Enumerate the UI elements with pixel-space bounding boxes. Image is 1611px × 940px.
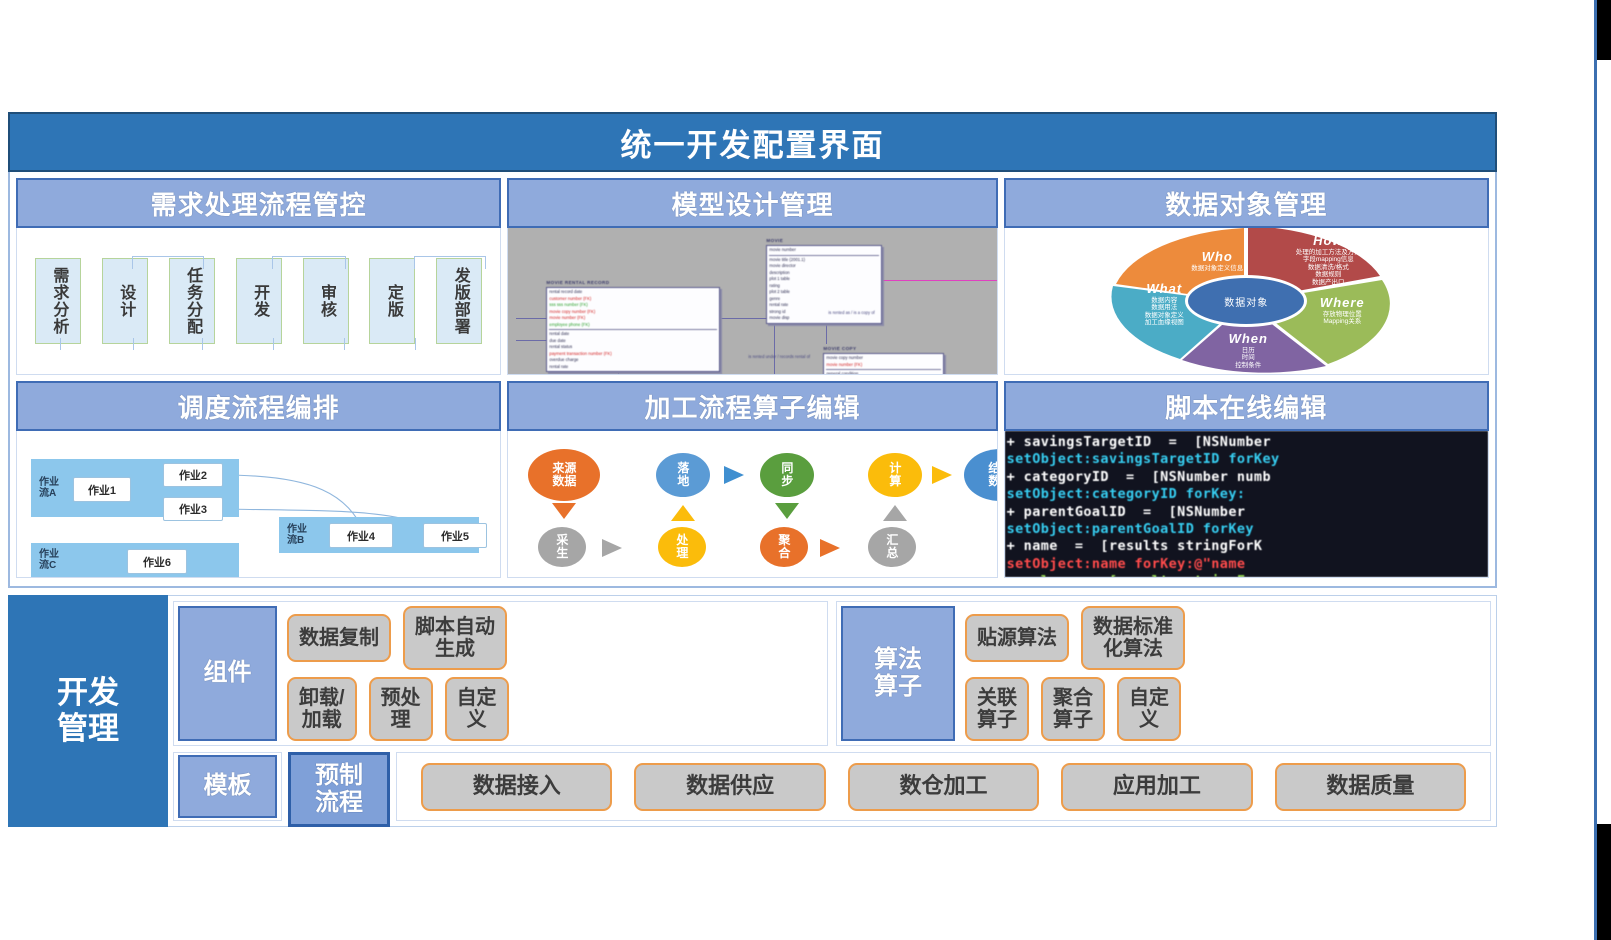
group-tag-template[interactable]: 模板 xyxy=(178,755,277,818)
chip-data-ingest[interactable]: 数据接入 xyxy=(421,763,612,811)
er-note-2: is rented under / records rental of xyxy=(748,354,824,359)
er-table-movie-keys: movie number xyxy=(769,247,879,256)
chip-join-operator[interactable]: 关联 算子 xyxy=(965,677,1029,741)
chip-aggregate-operator[interactable]: 聚合 算子 xyxy=(1041,677,1105,741)
job-5[interactable]: 作业5 xyxy=(423,523,487,548)
panel-title-script: 脚本在线编辑 xyxy=(1165,388,1327,425)
requirement-flow-diagram: 需求分析 设计 任务分配 开发 审核 定版 发版部署 xyxy=(17,228,500,374)
flow-step-4-label: 开发 xyxy=(250,284,267,318)
group-body-components: 数据复制 脚本自动 生成 卸载/ 加载 预处 理 自定 义 xyxy=(277,606,823,741)
panel-schedule-flow[interactable]: 调度流程编排 作业 流A 作业1 xyxy=(16,381,501,578)
job-2[interactable]: 作业2 xyxy=(163,463,223,487)
operator-source-data[interactable]: 来源 数据 xyxy=(528,449,600,501)
group-body-algorithms: 贴源算法 数据标准 化算法 关联 算子 聚合 算子 自定 义 xyxy=(955,606,1486,741)
flow-step-6[interactable]: 定版 xyxy=(369,258,415,344)
panels-frame: 需求处理流程管控 需求分析 设计 任务分配 开发 审核 定版 发版部署 xyxy=(8,172,1497,588)
flow-step-3[interactable]: 任务分配 xyxy=(169,258,215,344)
flow-step-5-label: 审核 xyxy=(317,284,334,318)
flow-connector-top-1 xyxy=(132,256,204,269)
er-table-rental: rental record date customer number (FK) … xyxy=(546,287,720,372)
er-table-copy-keys: movie copy number movie number (FK) xyxy=(826,355,941,370)
dev-template-row: 模板 预制 流程 数据接入 数据供应 数仓加工 应用加工 数据质量 xyxy=(173,752,1491,821)
arrow-down-2-icon xyxy=(775,503,799,519)
right-vertical-rule xyxy=(1594,0,1597,940)
panel-title-requirement: 需求处理流程管控 xyxy=(151,185,367,222)
page-title: 统一开发配置界面 xyxy=(621,120,885,165)
chip-source-algorithm[interactable]: 贴源算法 xyxy=(965,614,1069,662)
panel-title-data-object: 数据对象管理 xyxy=(1165,185,1327,222)
dev-management-label: 开发 管理 xyxy=(57,675,119,746)
chip-data-replication[interactable]: 数据复制 xyxy=(287,614,391,662)
operator-process[interactable]: 处 理 xyxy=(658,527,706,567)
flow-connector-top-3 xyxy=(414,256,486,269)
panel-data-object[interactable]: 数据对象管理 Who 数据对象定义信息 xyxy=(1004,178,1489,375)
flow-connector-top-2 xyxy=(272,256,346,269)
pie-center-text: 数据对象 xyxy=(1224,294,1268,309)
chip-standardization-algorithm[interactable]: 数据标准 化算法 xyxy=(1081,606,1185,670)
chip-script-autogen[interactable]: 脚本自动 生成 xyxy=(403,606,507,670)
job-4[interactable]: 作业4 xyxy=(329,523,393,548)
er-field: general condition xyxy=(826,371,941,375)
unified-dev-config-poster: 统一开发配置界面 需求处理流程管控 需求分析 设计 任务分配 开发 审核 定版 xyxy=(8,112,1497,822)
panel-header-model: 模型设计管理 xyxy=(507,178,997,228)
algorithms-row-1: 贴源算法 数据标准 化算法 xyxy=(965,606,1486,670)
er-field: movie disp xyxy=(769,315,879,322)
dev-management-section: 开发 管理 组件 数据复制 脚本自动 生成 卸载/ 加载 预处 理 自定 义 xyxy=(8,595,1497,827)
pie-center-label: 数据对象 xyxy=(1185,275,1307,327)
code-line-7: + name = [results stringForK xyxy=(1007,538,1263,554)
panel-body-schedule: 作业 流A 作业1 作业2 作业3 作业 流B 作业4 作业5 作业 流C xyxy=(16,431,501,578)
panel-script-editor[interactable]: 脚本在线编辑 + savingsTargetID = [NSNumber set… xyxy=(1004,381,1489,578)
panel-model-design[interactable]: 模型设计管理 MOVIE RENTAL RECORD xyxy=(507,178,997,375)
er-field: rental rate xyxy=(549,364,717,371)
panel-body-data-object: Who 数据对象定义信息 How 处理的加工方法及方法 字段mapping信息 xyxy=(1004,228,1489,375)
job-1[interactable]: 作业1 xyxy=(73,477,131,502)
right-edge-bottom-bar xyxy=(1597,824,1611,940)
operator-landing[interactable]: 落 地 xyxy=(656,453,710,497)
er-field: movie number (FK) xyxy=(826,362,941,369)
code-line-1: + savingsTargetID = [NSNumber xyxy=(1007,434,1271,450)
er-table-copy-fields: general condition movie format xyxy=(826,371,941,375)
chip-unload-load[interactable]: 卸载/ 加载 xyxy=(287,677,357,741)
flow-connector-bottom-3 xyxy=(344,338,416,350)
code-line-4: setObject:categoryID forKey: xyxy=(1007,486,1246,502)
arrow-right-2-icon xyxy=(932,466,952,484)
panel-title-schedule: 调度流程编排 xyxy=(178,388,340,425)
chip-data-quality[interactable]: 数据质量 xyxy=(1275,763,1466,811)
er-diagram: MOVIE RENTAL RECORD rental record date c… xyxy=(508,228,996,374)
group-tag-preset-flow[interactable]: 预制 流程 xyxy=(288,752,390,827)
chip-custom-operator[interactable]: 自定 义 xyxy=(1117,677,1181,741)
template-box: 模板 xyxy=(173,752,282,821)
arrow-up-2-icon xyxy=(883,505,907,521)
arrow-up-1-icon xyxy=(671,505,695,521)
operator-summarize[interactable]: 汇 总 xyxy=(868,527,916,567)
panel-title-operator: 加工流程算子编辑 xyxy=(644,388,860,425)
flow-connector-bottom-1 xyxy=(60,338,134,350)
operator-result-data[interactable]: 结果 数据 xyxy=(964,449,997,501)
panel-requirement-process[interactable]: 需求处理流程管控 需求分析 设计 任务分配 开发 审核 定版 发版部署 xyxy=(16,178,501,375)
operator-compute[interactable]: 计 算 xyxy=(868,453,922,497)
panel-body-script: + savingsTargetID = [NSNumber setObject:… xyxy=(1004,431,1489,578)
er-field: movie number xyxy=(769,247,879,254)
panel-header-requirement: 需求处理流程管控 xyxy=(16,178,501,228)
er-caption-1: MOVIE RENTAL RECORD xyxy=(546,280,609,285)
er-field: employee phone (FK) xyxy=(549,322,717,329)
flow-step-2-label: 设计 xyxy=(116,284,133,318)
code-line-5: + parentGoalID = [NSNumber xyxy=(1007,504,1246,520)
group-tag-components[interactable]: 组件 xyxy=(178,606,277,741)
arrow-right-3-icon xyxy=(602,539,622,557)
group-algorithms: 算法 算子 贴源算法 数据标准 化算法 关联 算子 聚合 算子 自定 义 xyxy=(836,601,1491,746)
flow-step-4[interactable]: 开发 xyxy=(236,258,282,344)
er-caption-3: MOVIE COPY xyxy=(823,346,856,351)
components-row-1: 数据复制 脚本自动 生成 xyxy=(287,606,823,670)
arrow-right-1-icon xyxy=(724,466,744,484)
chip-data-supply[interactable]: 数据供应 xyxy=(634,763,825,811)
flow-step-2[interactable]: 设计 xyxy=(102,258,148,344)
code-line-9: + color = [results stringFo xyxy=(1007,573,1254,577)
er-table-rental-fields: rental date due date rental status payme… xyxy=(549,331,717,370)
panel-row-1: 需求处理流程管控 需求分析 设计 任务分配 开发 审核 定版 发版部署 xyxy=(16,178,1489,375)
er-note-1: is rented as / is a copy of xyxy=(828,310,908,315)
code-line-2: setObject:savingsTargetID forKey xyxy=(1007,451,1280,467)
flow-step-7[interactable]: 发版部署 xyxy=(436,258,482,344)
job-6[interactable]: 作业6 xyxy=(127,549,187,574)
algorithms-row-2: 关联 算子 聚合 算子 自定 义 xyxy=(965,677,1486,741)
data-object-pie-chart: Who 数据对象定义信息 How 处理的加工方法及方法 字段mapping信息 xyxy=(1005,228,1488,374)
group-tag-algorithms[interactable]: 算法 算子 xyxy=(841,606,955,741)
panel-operator-edit[interactable]: 加工流程算子编辑 来源 数据 落 地 同 步 计 算 结果 数据 xyxy=(507,381,997,578)
flow-step-7-label: 发版部署 xyxy=(451,267,468,335)
panel-header-data-object: 数据对象管理 xyxy=(1004,178,1489,228)
panel-header-operator: 加工流程算子编辑 xyxy=(507,381,997,431)
group-components: 组件 数据复制 脚本自动 生成 卸载/ 加载 预处 理 自定 义 xyxy=(173,601,828,746)
schedule-flow-diagram: 作业 流A 作业1 作业2 作业3 作业 流B 作业4 作业5 作业 流C xyxy=(17,431,500,577)
panel-header-schedule: 调度流程编排 xyxy=(16,381,501,431)
code-line-8: setObject:name forKey:@"name xyxy=(1007,556,1246,572)
flow-step-3-label: 任务分配 xyxy=(183,267,200,335)
operator-aggregate[interactable]: 聚 合 xyxy=(760,527,808,567)
chip-custom-component[interactable]: 自定 义 xyxy=(445,677,509,741)
job-3[interactable]: 作业3 xyxy=(163,497,223,521)
components-row-2: 卸载/ 加载 预处 理 自定 义 xyxy=(287,677,823,741)
operator-flow-diagram: 来源 数据 落 地 同 步 计 算 结果 数据 采 生 处 理 xyxy=(508,431,996,577)
flow-step-1[interactable]: 需求分析 xyxy=(35,258,81,344)
operator-sync[interactable]: 同 步 xyxy=(760,453,814,497)
page-title-bar: 统一开发配置界面 xyxy=(8,112,1497,172)
chip-warehouse-process[interactable]: 数仓加工 xyxy=(848,763,1039,811)
chip-preprocess[interactable]: 预处 理 xyxy=(369,677,433,741)
lane-b-label: 作业 流B xyxy=(287,524,307,546)
panel-title-model: 模型设计管理 xyxy=(671,185,833,222)
er-link-pink xyxy=(866,280,997,281)
operator-collect[interactable]: 采 生 xyxy=(538,527,586,567)
panel-body-operator: 来源 数据 落 地 同 步 计 算 结果 数据 采 生 处 理 xyxy=(507,431,997,578)
code-line-6: setObject:parentGoalID forKey xyxy=(1007,521,1254,537)
er-table-movie-copy: movie copy number movie number (FK) gene… xyxy=(823,353,944,375)
code-editor-content[interactable]: + savingsTargetID = [NSNumber setObject:… xyxy=(1005,431,1488,577)
preset-items-box: 数据接入 数据供应 数仓加工 应用加工 数据质量 xyxy=(396,752,1491,821)
panel-body-model: MOVIE RENTAL RECORD rental record date c… xyxy=(507,228,997,375)
dev-groups-row: 组件 数据复制 脚本自动 生成 卸载/ 加载 预处 理 自定 义 xyxy=(173,601,1491,746)
panel-body-requirement: 需求分析 设计 任务分配 开发 审核 定版 发版部署 xyxy=(16,228,501,375)
chip-app-process[interactable]: 应用加工 xyxy=(1061,763,1252,811)
dev-management-content: 组件 数据复制 脚本自动 生成 卸载/ 加载 预处 理 自定 义 xyxy=(168,595,1497,827)
lane-a-label: 作业 流A xyxy=(39,477,59,499)
panel-row-2: 调度流程编排 作业 流A 作业1 xyxy=(16,381,1489,578)
er-link-mid-down xyxy=(774,318,775,374)
lane-c-label: 作业 流C xyxy=(39,549,59,571)
flow-step-5[interactable]: 审核 xyxy=(303,258,349,344)
panel-header-script: 脚本在线编辑 xyxy=(1004,381,1489,431)
flow-connector-bottom-2 xyxy=(202,338,274,350)
er-table-rental-keys: rental record date customer number (FK) … xyxy=(549,289,717,330)
right-edge-top-bar xyxy=(1597,0,1611,60)
flow-step-6-label: 定版 xyxy=(384,284,401,318)
dev-management-label-block: 开发 管理 xyxy=(8,595,168,827)
flow-step-1-label: 需求分析 xyxy=(50,267,67,335)
code-line-3: + categoryID = [NSNumber numb xyxy=(1007,469,1271,485)
arrow-down-1-icon xyxy=(552,503,576,519)
er-caption-2: MOVIE xyxy=(766,238,783,243)
arrow-right-4-icon xyxy=(820,539,840,557)
